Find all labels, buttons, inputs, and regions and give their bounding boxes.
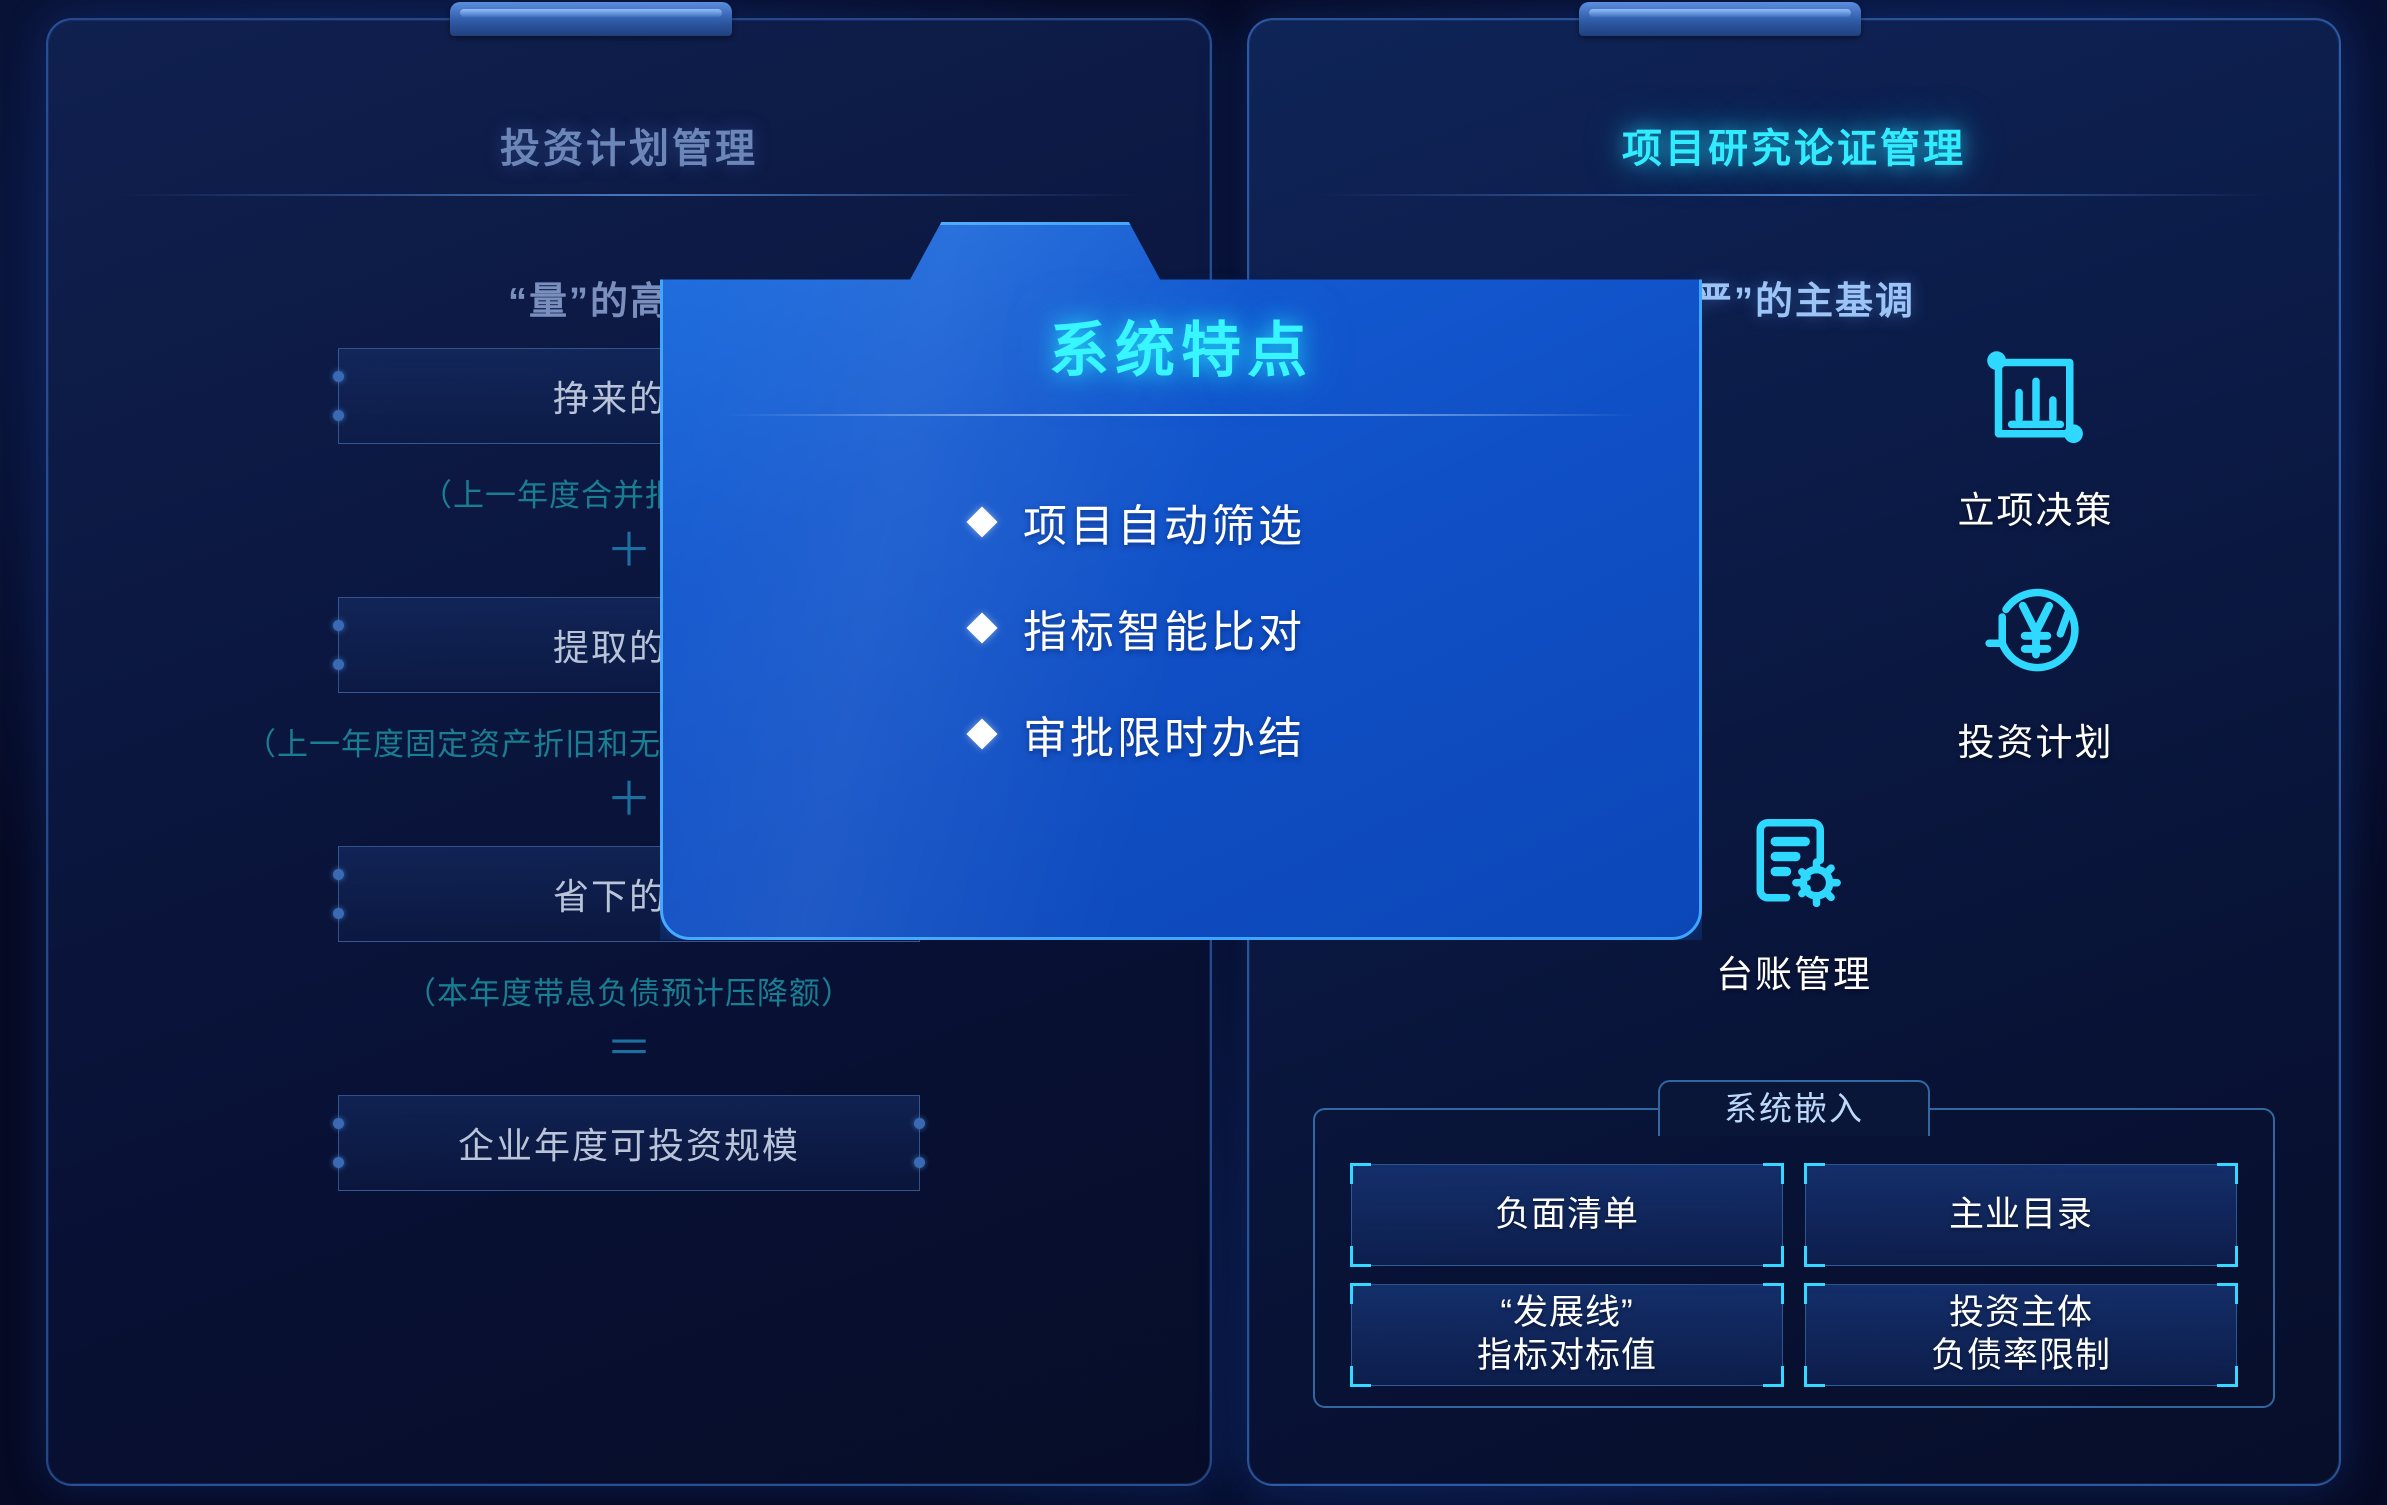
diamond-bullet-icon	[966, 612, 997, 643]
overlay-list-item[interactable]: 指标智能比对	[971, 596, 1391, 660]
embed-card-negative-list[interactable]: 负面清单	[1351, 1164, 1783, 1266]
corner-bracket-icon	[1804, 1366, 1825, 1387]
corner-bracket-icon	[2217, 1283, 2238, 1304]
embed-card-label-line1: 投资主体	[1949, 1293, 2093, 1332]
embed-card-label: 主业目录	[1949, 1194, 2093, 1237]
overlay-divider	[724, 414, 1638, 416]
feature-item-project-approval[interactable]: 立项决策	[1794, 336, 2277, 534]
corner-bracket-icon	[1804, 1163, 1825, 1184]
diamond-bullet-icon	[966, 506, 997, 537]
connector-pin	[333, 908, 344, 919]
overlay-list-label: 指标智能比对	[1023, 596, 1305, 660]
panel-folder-tab	[450, 2, 732, 36]
corner-bracket-icon	[2217, 1163, 2238, 1184]
embed-card-development-line[interactable]: “发展线” 指标对标值	[1351, 1284, 1783, 1386]
corner-bracket-icon	[1350, 1163, 1371, 1184]
corner-bracket-icon	[1350, 1366, 1371, 1387]
embed-card-label-line2: 负债率限制	[1931, 1336, 2111, 1375]
corner-bracket-icon	[1763, 1163, 1784, 1184]
corner-bracket-icon	[1763, 1283, 1784, 1304]
flow-box-result[interactable]: 企业年度可投资规模	[338, 1095, 920, 1191]
embed-card-investor-debt-limit[interactable]: 投资主体 负债率限制	[1805, 1284, 2237, 1386]
corner-bracket-icon	[1350, 1283, 1371, 1304]
flow-operator: ＝	[46, 1025, 1212, 1071]
feature-label: 投资计划	[1958, 712, 2114, 766]
overlay-list-item[interactable]: 项目自动筛选	[971, 490, 1391, 554]
flow-caption: （本年度带息负债预计压降额）	[46, 968, 1212, 1013]
yen-refresh-icon	[1972, 568, 2100, 696]
flow-box-label: 企业年度可投资规模	[458, 1117, 800, 1169]
diamond-bullet-icon	[966, 718, 997, 749]
embed-card-main-business-catalog[interactable]: 主业目录	[1805, 1164, 2237, 1266]
connector-pin	[333, 1118, 344, 1129]
connector-pin	[914, 1157, 925, 1168]
bar-chart-frame-icon	[1972, 336, 2100, 464]
panel-title-right: 项目研究论证管理	[1247, 116, 2341, 174]
connector-pin	[333, 869, 344, 880]
title-divider-left	[118, 194, 1140, 196]
corner-bracket-icon	[2217, 1246, 2238, 1267]
feature-label: 台账管理	[1716, 944, 1872, 998]
feature-label: 立项决策	[1958, 480, 2114, 534]
embed-card-label: 负面清单	[1495, 1194, 1639, 1237]
connector-pin	[333, 371, 344, 382]
overlay-list-label: 项目自动筛选	[1023, 490, 1305, 554]
embedded-systems-grid: 负面清单 主业目录 “发展线” 指标对标值	[1351, 1164, 2237, 1386]
corner-bracket-icon	[1350, 1246, 1371, 1267]
corner-bracket-icon	[1804, 1246, 1825, 1267]
slide-canvas: 投资计划管理 “量”的高标准 挣来的钱 （上一年度合并报表净利润） ＋ 提取的钱…	[0, 0, 2387, 1505]
corner-bracket-icon	[1804, 1283, 1825, 1304]
connector-pin	[333, 620, 344, 631]
panel-title-left: 投资计划管理	[46, 116, 1212, 174]
overlay-list-item[interactable]: 审批限时办结	[971, 702, 1391, 766]
document-gear-icon	[1730, 800, 1858, 928]
embedded-systems-legend: 系统嵌入	[1702, 1082, 1886, 1130]
connector-pin	[333, 410, 344, 421]
embed-card-label-line1: “发展线”	[1500, 1293, 1633, 1332]
overlay-list-label: 审批限时办结	[1023, 702, 1305, 766]
title-divider-right	[1319, 194, 2269, 196]
connector-pin	[914, 1118, 925, 1129]
system-features-overlay-card[interactable]: 系统特点 项目自动筛选 指标智能比对 审批限时办结	[660, 222, 1702, 940]
feature-item-investment-plan[interactable]: 投资计划	[1794, 568, 2277, 766]
overlay-feature-list: 项目自动筛选 指标智能比对 审批限时办结	[660, 490, 1702, 808]
embed-card-label-line2: 指标对标值	[1477, 1336, 1657, 1375]
overlay-title: 系统特点	[660, 302, 1702, 389]
connector-pin	[333, 659, 344, 670]
embedded-systems-box: 系统嵌入 负面清单 主业目录	[1313, 1108, 2275, 1408]
panel-folder-tab	[1579, 2, 1861, 36]
corner-bracket-icon	[1763, 1246, 1784, 1267]
connector-pin	[333, 1157, 344, 1168]
corner-bracket-icon	[2217, 1366, 2238, 1387]
corner-bracket-icon	[1763, 1366, 1784, 1387]
